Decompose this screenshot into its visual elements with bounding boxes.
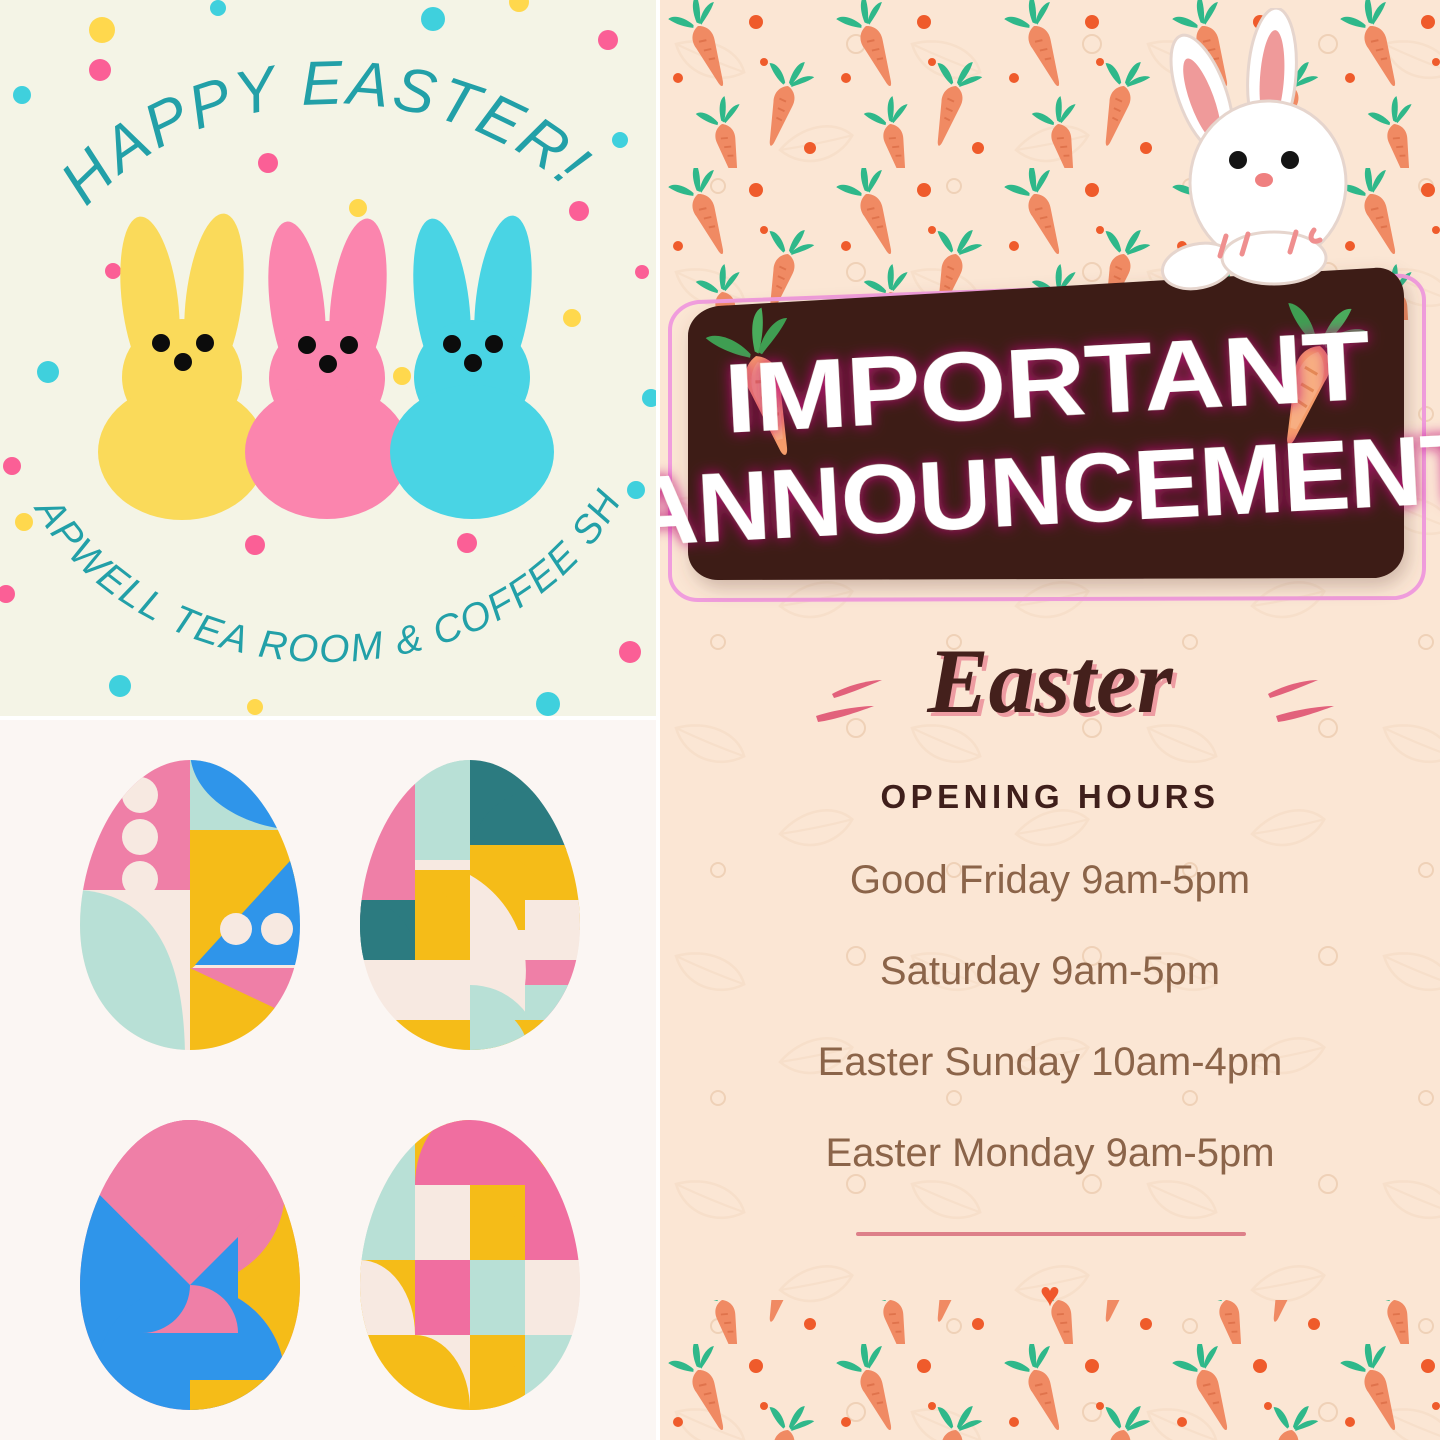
hours-row: Saturday 9am-5pm [660, 951, 1440, 991]
left-column: HAPPY EASTER! GLAPWELL TEA ROOM & COFFEE… [0, 0, 656, 1440]
panel-important-announcement: IMPORTANT ANNOUNCEMENT [660, 0, 1440, 1440]
hours-row: Easter Sunday 10am-4pm [660, 1042, 1440, 1082]
hours-row: Easter Monday 9am-5pm [660, 1133, 1440, 1173]
accent-dashes-right [1268, 680, 1334, 722]
heart-icon: ♥ [660, 1278, 1440, 1312]
accent-dashes-left [816, 680, 882, 722]
hours-row: Good Friday 9am-5pm [660, 860, 1440, 900]
opening-hours-subheading: OPENING HOURS [660, 778, 1440, 816]
panel-geometric-eggs [0, 720, 656, 1440]
announcement-banner: IMPORTANT ANNOUNCEMENT [660, 258, 1440, 620]
divider-line [856, 1232, 1246, 1236]
bunny-mascot-icon [1156, 8, 1386, 308]
panel-happy-easter: HAPPY EASTER! GLAPWELL TEA ROOM & COFFEE… [0, 0, 656, 716]
opening-hours-list: Good Friday 9am-5pm Saturday 9am-5pm Eas… [660, 860, 1440, 1173]
collage-canvas: HAPPY EASTER! GLAPWELL TEA ROOM & COFFEE… [0, 0, 1440, 1440]
easter-script-heading: Easter Easter [660, 632, 1440, 762]
easter-word: Easter [926, 632, 1174, 732]
